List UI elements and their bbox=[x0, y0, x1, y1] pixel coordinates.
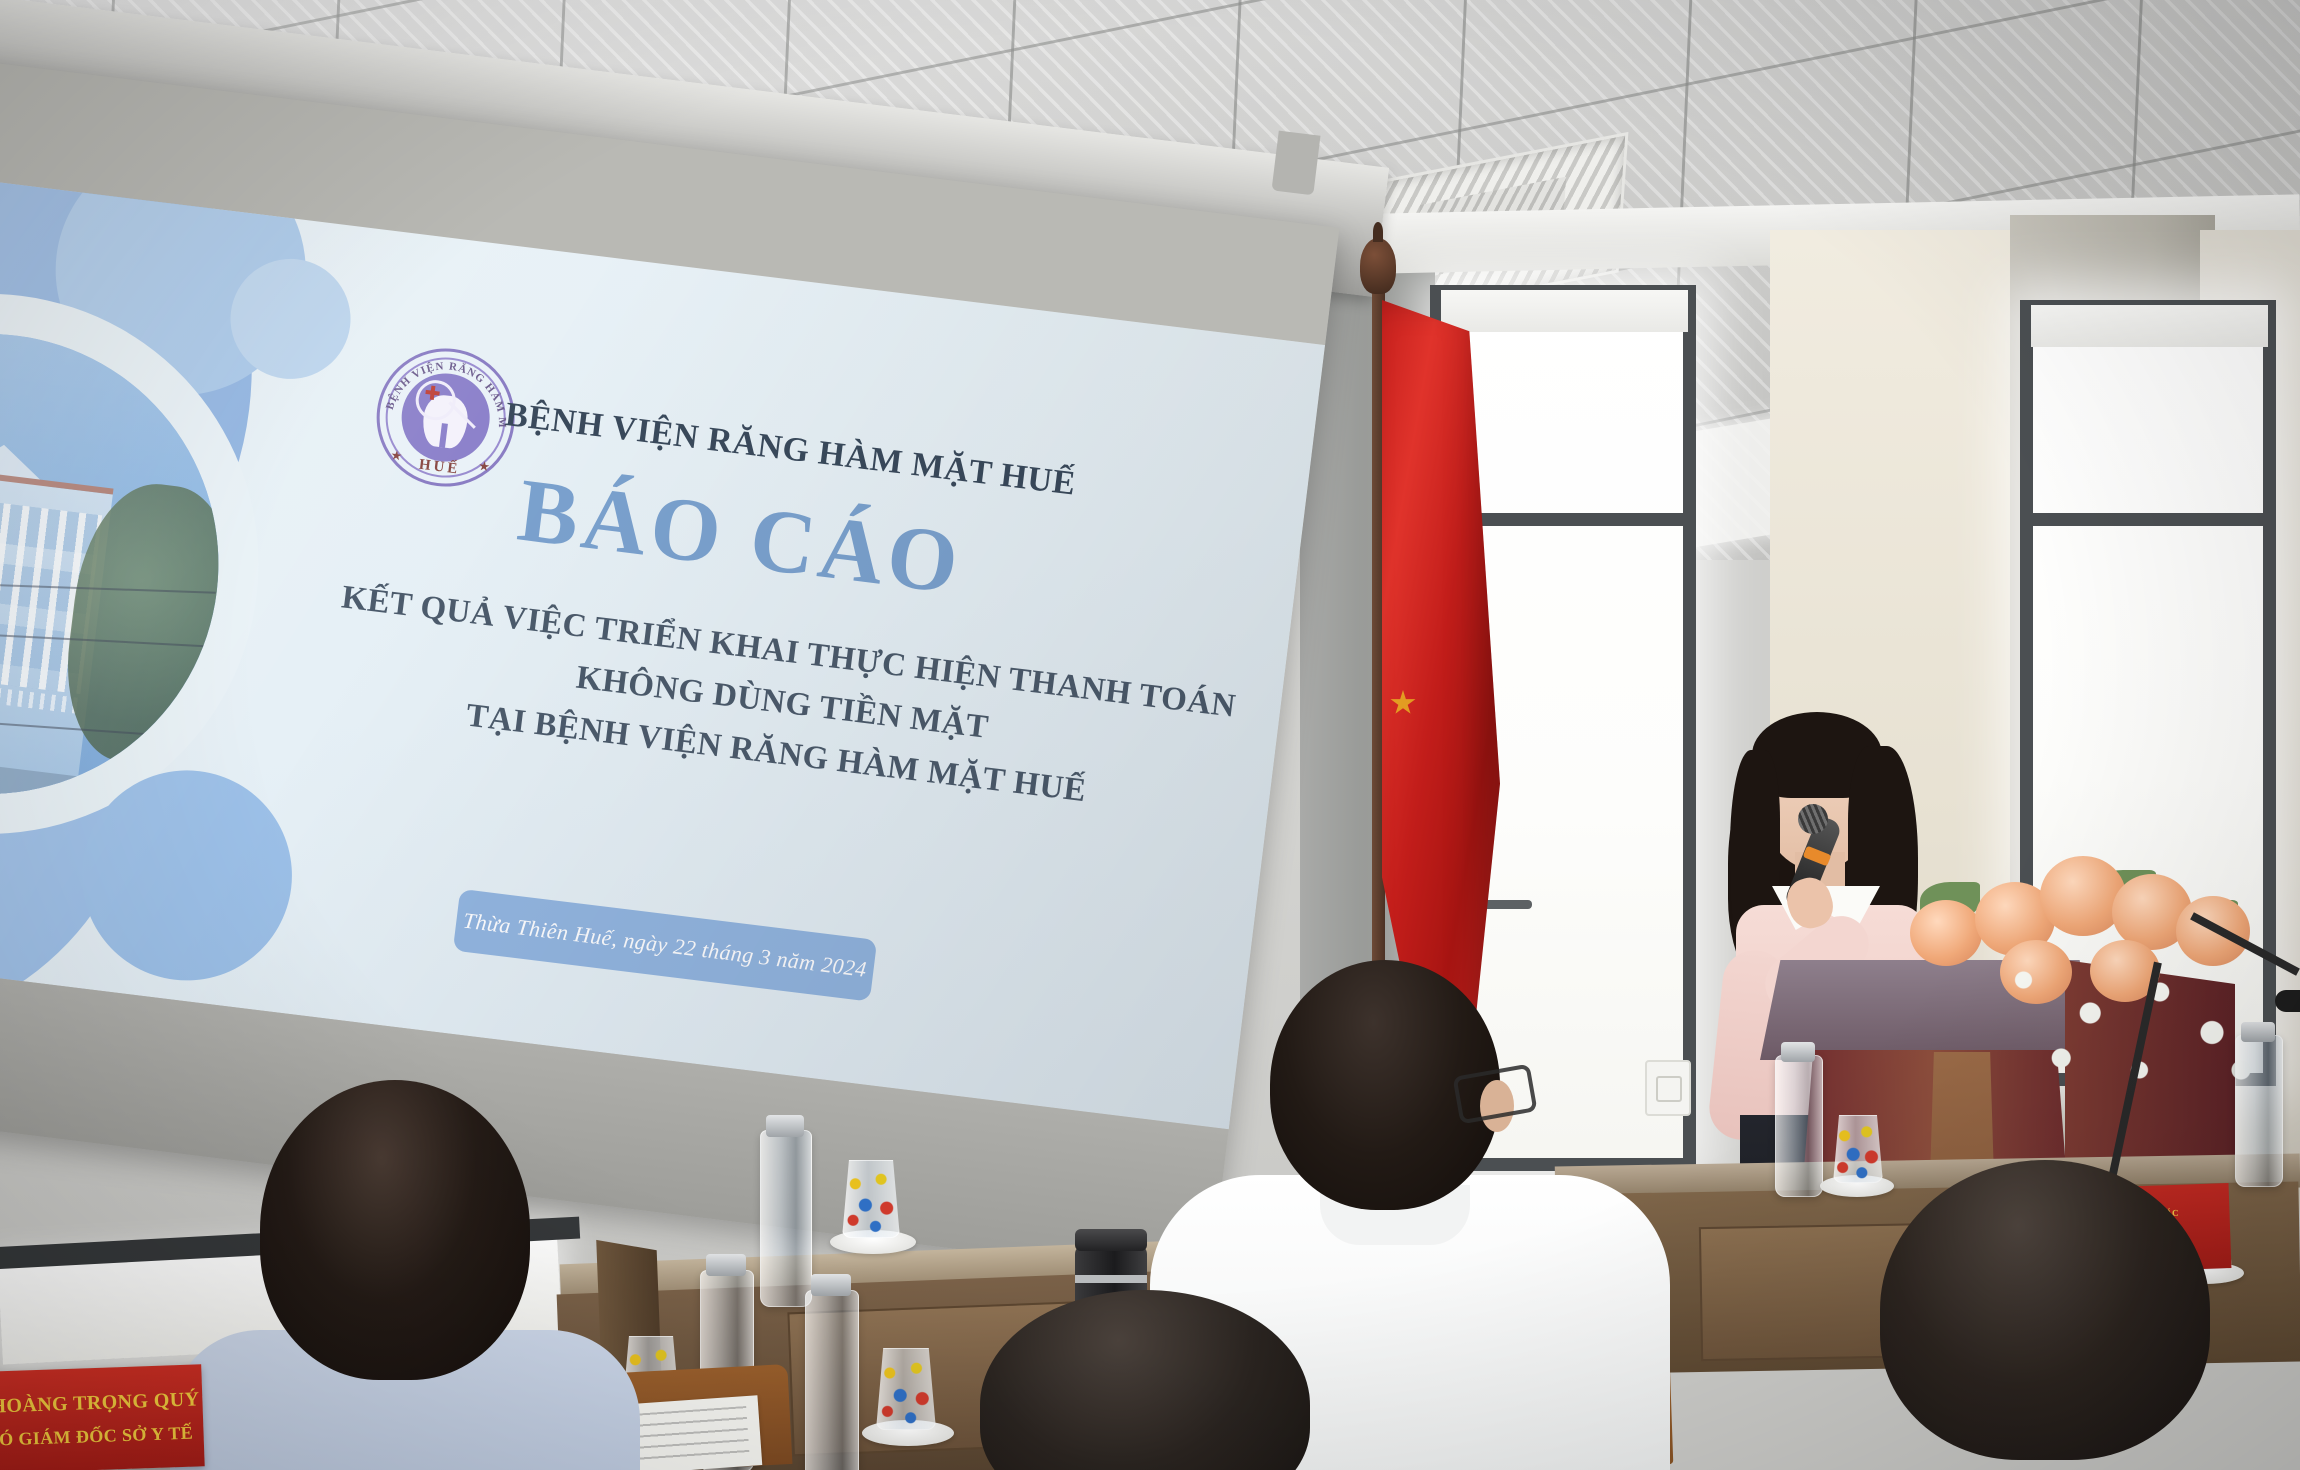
name-placard-left: HOÀNG TRỌNG QUÝ Ó GIÁM ĐỐC SỞ Y TẾ bbox=[0, 1364, 205, 1470]
audience-head bbox=[260, 1080, 530, 1380]
travel-mug-ring bbox=[1075, 1275, 1147, 1283]
glass-dot-pattern bbox=[843, 1161, 899, 1237]
water-bottle[interactable] bbox=[1775, 1055, 1823, 1197]
hospital-logo: BỆNH VIỆN RĂNG HÀM MẶT ★ ★ HUẾ bbox=[369, 341, 523, 495]
bottle-cap bbox=[766, 1115, 804, 1137]
audience-member bbox=[1840, 1160, 2270, 1470]
audience-head bbox=[1880, 1160, 2210, 1460]
window-blind bbox=[1441, 290, 1688, 332]
bottle-cap bbox=[706, 1254, 746, 1276]
drinking-glass[interactable] bbox=[842, 1160, 900, 1238]
photo-scene: BỆNH VIỆN RĂNG HÀM MẶT ★ ★ HUẾ BỆNH VIỆN… bbox=[0, 0, 2300, 1470]
white-filler-flowers bbox=[1980, 950, 2270, 1100]
power-outlet-icon bbox=[1645, 1060, 1691, 1116]
window-blind bbox=[2031, 305, 2268, 347]
projector-screen-end-cap bbox=[1272, 131, 1321, 196]
flower-arrangement bbox=[1880, 830, 2280, 1070]
slide-date-chip: Thừa Thiên Huế, ngày 22 tháng 3 năm 2024 bbox=[453, 889, 877, 1002]
rose-icon bbox=[1910, 900, 1982, 966]
bottle-cap bbox=[1781, 1042, 1815, 1062]
flag-finial bbox=[1360, 238, 1396, 294]
hospital-photo-image bbox=[0, 308, 245, 821]
water-bottle[interactable] bbox=[760, 1130, 812, 1307]
audience-member bbox=[950, 1290, 1370, 1470]
water-bottle[interactable] bbox=[805, 1290, 859, 1470]
hospital-photo bbox=[0, 308, 245, 821]
window-transom-bar bbox=[2033, 513, 2263, 526]
svg-text:BỆNH VIỆN RĂNG HÀM MẶT: BỆNH VIỆN RĂNG HÀM MẶT bbox=[375, 344, 518, 430]
travel-mug-lid bbox=[1075, 1229, 1147, 1251]
placard-role: Ó GIÁM ĐỐC SỞ Y TẾ bbox=[0, 1422, 204, 1450]
bottle-cap bbox=[811, 1274, 851, 1296]
drinking-glass[interactable] bbox=[876, 1348, 936, 1430]
microphone-head-icon bbox=[2275, 990, 2300, 1012]
placard-name: HOÀNG TRỌNG QUÝ bbox=[0, 1388, 203, 1418]
projection-screen: BỆNH VIỆN RĂNG HÀM MẶT ★ ★ HUẾ BỆNH VIỆN… bbox=[0, 55, 1339, 1280]
paper-note-text-lines bbox=[630, 1406, 749, 1464]
glass-dot-pattern bbox=[877, 1349, 935, 1429]
audience-member bbox=[240, 1080, 560, 1470]
audience-head bbox=[980, 1290, 1310, 1470]
bottle-cap bbox=[2241, 1022, 2275, 1042]
